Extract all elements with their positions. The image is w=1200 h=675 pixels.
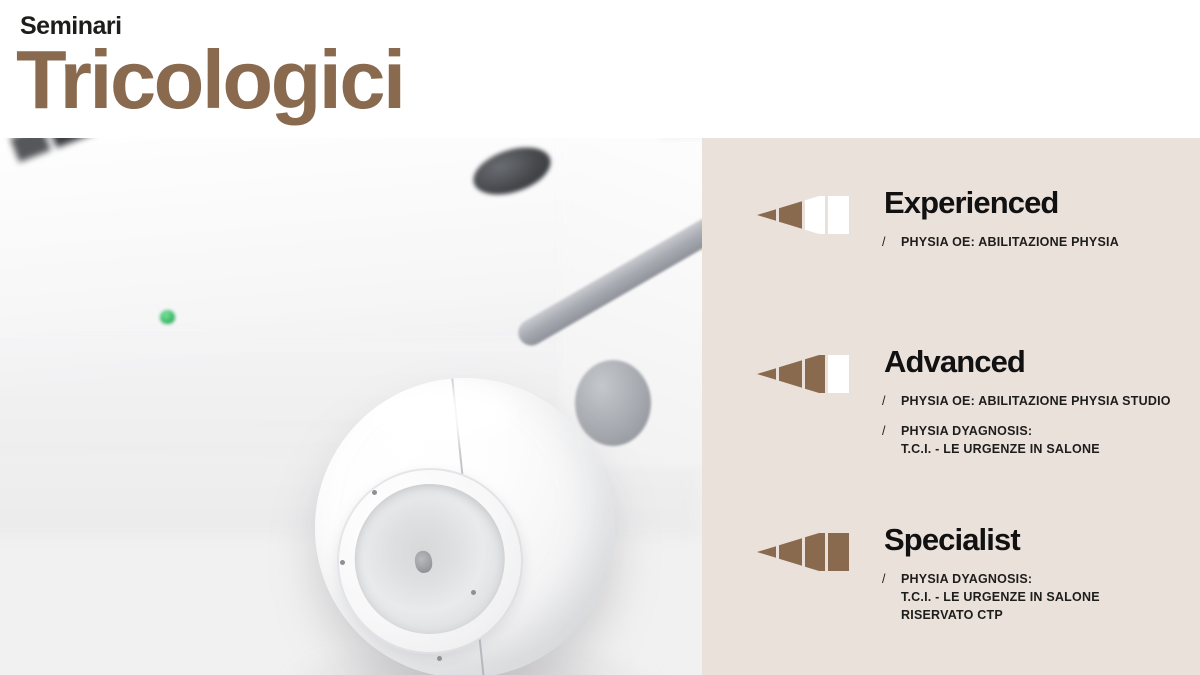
level-title: Experienced [884,186,1058,220]
list-item: / PHYSIA DYAGNOSIS: T.C.I. - LE URGENZE … [882,571,1197,624]
bullet-marker: / [882,423,886,441]
rank-arrow-icon [757,533,849,571]
bullet-marker: / [882,393,886,411]
handpiece-joint [575,360,651,446]
lens-dome [345,474,514,643]
bullet-marker: / [882,571,886,589]
level-title: Advanced [884,345,1025,379]
rank-arrow-icon [757,355,849,393]
lens-center-dot [414,550,434,574]
list-item: / PHYSIA OE: ABILITAZIONE PHYSIA STUDIO [882,393,1197,411]
product-photo [0,138,702,675]
page-title: Tricologici [16,38,404,121]
levels-panel: Experienced / PHYSIA OE: ABILITAZIONE PH… [702,138,1200,675]
level-items: / PHYSIA DYAGNOSIS: T.C.I. - LE URGENZE … [882,571,1197,624]
list-item: / PHYSIA DYAGNOSIS: T.C.I. - LE URGENZE … [882,423,1197,459]
level-items: / PHYSIA OE: ABILITAZIONE PHYSIA [882,234,1197,252]
bezel-screw [437,656,442,661]
bezel-screw [372,490,377,495]
bezel-screw [340,560,345,565]
bezel-screw [471,590,476,595]
level-items: / PHYSIA OE: ABILITAZIONE PHYSIA STUDIO … [882,393,1197,458]
list-item-label: PHYSIA OE: ABILITAZIONE PHYSIA [901,234,1197,252]
list-item-label: PHYSIA OE: ABILITAZIONE PHYSIA STUDIO [901,393,1197,411]
header-band: Seminari Tricologici [0,0,1200,138]
rank-arrow-icon [757,196,849,234]
bullet-marker: / [882,234,886,252]
list-item: / PHYSIA OE: ABILITAZIONE PHYSIA [882,234,1197,252]
list-item-label: PHYSIA DYAGNOSIS: T.C.I. - LE URGENZE IN… [901,423,1197,459]
slide-root: Seminari Tricologici [0,0,1200,675]
list-item-label: PHYSIA DYAGNOSIS: T.C.I. - LE URGENZE IN… [901,571,1197,624]
green-led-indicator [160,310,175,324]
level-title: Specialist [884,523,1020,557]
